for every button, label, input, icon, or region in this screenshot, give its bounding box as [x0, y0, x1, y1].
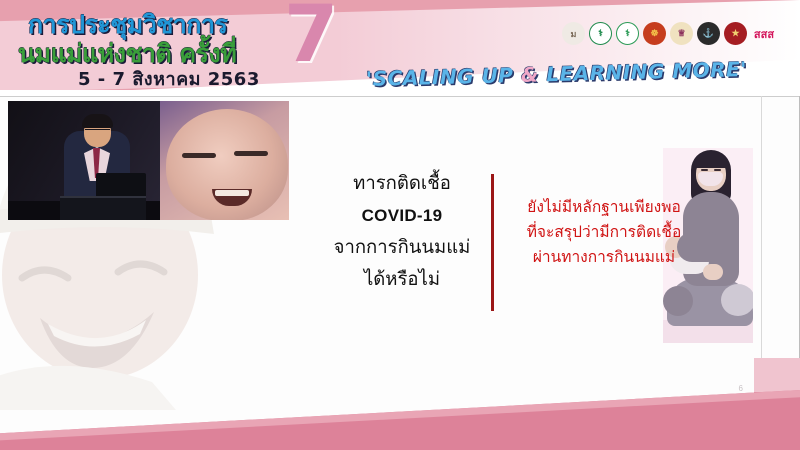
nursing-council-logo: ⚓: [697, 22, 720, 45]
question-line-1: ทารกติดเชื้อ: [322, 168, 482, 200]
logo-glyph: สสส: [754, 25, 774, 43]
answer-line-1: ยังไม่มีหลักฐานเพียงพอ: [498, 195, 710, 220]
tagline-ampersand: &: [521, 62, 540, 86]
speaker-glasses: [85, 129, 110, 134]
mother-knee-left: [663, 286, 693, 316]
mother-hair-top: [693, 152, 729, 168]
thai-breastfeeding-foundation-logo: ม: [562, 22, 585, 45]
question-line-4: ได้หรือไม่: [322, 264, 482, 296]
logo-glyph: ♕: [677, 28, 685, 39]
slide-right-divider: [761, 96, 762, 402]
mother-eye-right: [714, 169, 721, 171]
lectern-podium: [60, 196, 146, 220]
projection-screen-baby-image: [160, 101, 289, 220]
royal-thai-government-emblem-logo: ♕: [670, 22, 693, 45]
slide-top-divider: [0, 96, 800, 97]
projected-baby-eye-left: [182, 153, 216, 158]
projected-baby-teeth: [215, 190, 249, 196]
logo-glyph: ⚕: [625, 28, 630, 39]
answer-line-2: ที่จะสรุปว่ามีการติดเชื้อ: [498, 220, 710, 245]
logo-glyph: ⚓: [703, 28, 714, 39]
question-line-3: จากการกินนมแม่: [322, 232, 482, 264]
logo-glyph: ★: [731, 28, 739, 39]
answer-line-3: ผ่านทางการกินนมแม่: [498, 245, 710, 270]
logo-glyph: ☸: [650, 28, 658, 39]
projected-baby-eye-right: [234, 151, 268, 156]
speaker-hair: [82, 114, 113, 128]
slide-page-number: 6: [739, 384, 743, 393]
sponsor-logo-strip: ม ⚕ ⚕ ☸ ♕ ⚓ ★ สสส: [562, 22, 777, 45]
presentation-slide: ทารกติดเชื้อ COVID-19 จากการกินนมแม่ ได้…: [0, 96, 800, 450]
question-line-2: COVID-19: [322, 200, 482, 232]
thai-health-sso-logo: สสส: [751, 23, 777, 45]
tagline-prefix: 'SCALING UP: [366, 63, 521, 91]
logo-glyph: ⚕: [598, 28, 603, 39]
mother-knee-right: [721, 284, 753, 316]
slide-answer-text: ยังไม่มีหลักฐานเพียงพอ ที่จะสรุปว่ามีการ…: [498, 195, 710, 270]
royal-college-pediatricians-logo: ☸: [643, 22, 666, 45]
right-pale-pink-band: [754, 358, 800, 394]
logo-glyph: ม: [571, 27, 577, 41]
slide-question-text: ทารกติดเชื้อ COVID-19 จากการกินนมแม่ ได้…: [322, 168, 482, 296]
mother-eye-left: [701, 169, 708, 171]
conference-date: 5 - 7 สิงหาคม 2563: [78, 64, 260, 93]
speaker-presentation-video-feed: [8, 101, 289, 220]
conference-edition-number: 7: [284, 0, 338, 74]
question-answer-divider: [491, 174, 494, 311]
ministry-public-health-logo: ⚕: [589, 22, 612, 45]
department-health-logo: ⚕: [616, 22, 639, 45]
conference-banner: การประชุมวิชาการ นมแม่แห่งชาติ ครั้งที่ …: [0, 0, 800, 96]
medical-association-logo: ★: [724, 22, 747, 45]
